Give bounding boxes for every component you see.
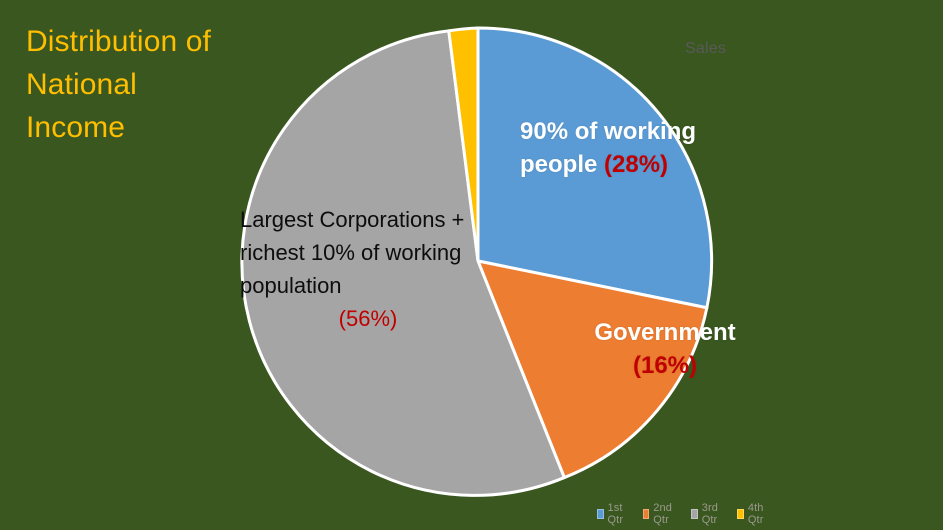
data-label-text-corporations: Largest Corporations + richest 10% of wo…	[240, 207, 464, 298]
data-label-pct-corporations: (56%)	[240, 302, 490, 335]
legend-swatch-icon-3rd-qtr	[691, 509, 698, 519]
legend-item-2nd-qtr[interactable]: 2nd Qtr	[643, 502, 676, 526]
legend-swatch-icon-4th-qtr	[737, 509, 743, 519]
data-label-pct-working-people: (28%)	[604, 151, 668, 178]
legend-label-1st-qtr: 1st Qtr	[608, 502, 627, 526]
legend-label-3rd-qtr: 3rd Qtr	[702, 502, 722, 526]
legend-label-2nd-qtr: 2nd Qtr	[653, 502, 675, 526]
data-label-text-government: Government	[594, 319, 735, 346]
slide-canvas: Distribution of National Income Sales 1s…	[0, 0, 943, 530]
chart-legend: 1st Qtr 2nd Qtr 3rd Qtr 4th Qtr	[597, 502, 767, 526]
legend-label-4th-qtr: 4th Qtr	[748, 502, 767, 526]
chart-title: Sales	[685, 40, 726, 58]
legend-swatch-icon-1st-qtr	[597, 509, 604, 519]
data-label-government: Government (16%)	[565, 316, 765, 382]
data-label-working-people: 90% of working people (28%)	[520, 115, 750, 181]
legend-item-1st-qtr[interactable]: 1st Qtr	[597, 502, 627, 526]
legend-swatch-icon-2nd-qtr	[643, 509, 650, 519]
data-label-corporations: Largest Corporations + richest 10% of wo…	[240, 203, 490, 335]
data-label-pct-government: (16%)	[633, 352, 697, 379]
legend-item-4th-qtr[interactable]: 4th Qtr	[737, 502, 767, 526]
legend-item-3rd-qtr[interactable]: 3rd Qtr	[691, 502, 721, 526]
